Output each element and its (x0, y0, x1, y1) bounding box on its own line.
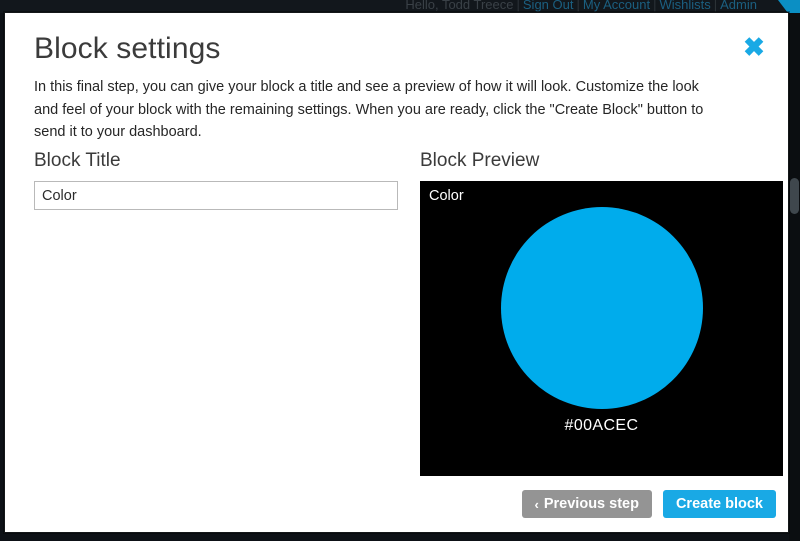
previous-step-button[interactable]: ‹ Previous step (522, 490, 652, 518)
create-block-label: Create block (676, 497, 763, 512)
block-title-section: Block Title (34, 149, 398, 476)
header-link-my-account[interactable]: My Account (583, 0, 650, 12)
header-separator-1: | (514, 0, 523, 12)
page-scrollbar[interactable] (789, 13, 800, 541)
block-title-label: Block Title (34, 149, 398, 173)
modal-body: Block Title Block Preview Color #00ACEC (5, 149, 788, 476)
chevron-left-icon: ‹ (535, 498, 539, 511)
page-scrollbar-thumb[interactable] (790, 178, 799, 214)
header-link-wishlists[interactable]: Wishlists (659, 0, 710, 12)
block-preview-label: Block Preview (420, 149, 783, 173)
modal-footer: ‹ Previous step Create block (5, 476, 788, 532)
preview-hex-value: #00ACEC (420, 415, 783, 437)
previous-step-label: Previous step (544, 497, 639, 512)
header-link-admin[interactable]: Admin (720, 0, 757, 12)
block-settings-modal: ✖ Block settings In this final step, you… (4, 12, 789, 533)
block-title-input[interactable] (34, 181, 398, 210)
close-icon[interactable]: ✖ (741, 34, 767, 60)
modal-description: In this final step, you can give your bl… (5, 67, 750, 144)
color-swatch-circle (501, 207, 703, 409)
header-separator-2: | (573, 0, 582, 12)
block-preview-canvas: Color #00ACEC (420, 181, 783, 476)
create-block-button[interactable]: Create block (663, 490, 776, 518)
header-link-sign-out[interactable]: Sign Out (523, 0, 574, 12)
preview-caption: Color (429, 186, 464, 206)
page-title: Block settings (5, 13, 788, 67)
site-greeting: Hello, Todd Treece (405, 0, 513, 12)
block-preview-section: Block Preview Color #00ACEC (420, 149, 783, 476)
header-separator-4: | (711, 0, 720, 12)
